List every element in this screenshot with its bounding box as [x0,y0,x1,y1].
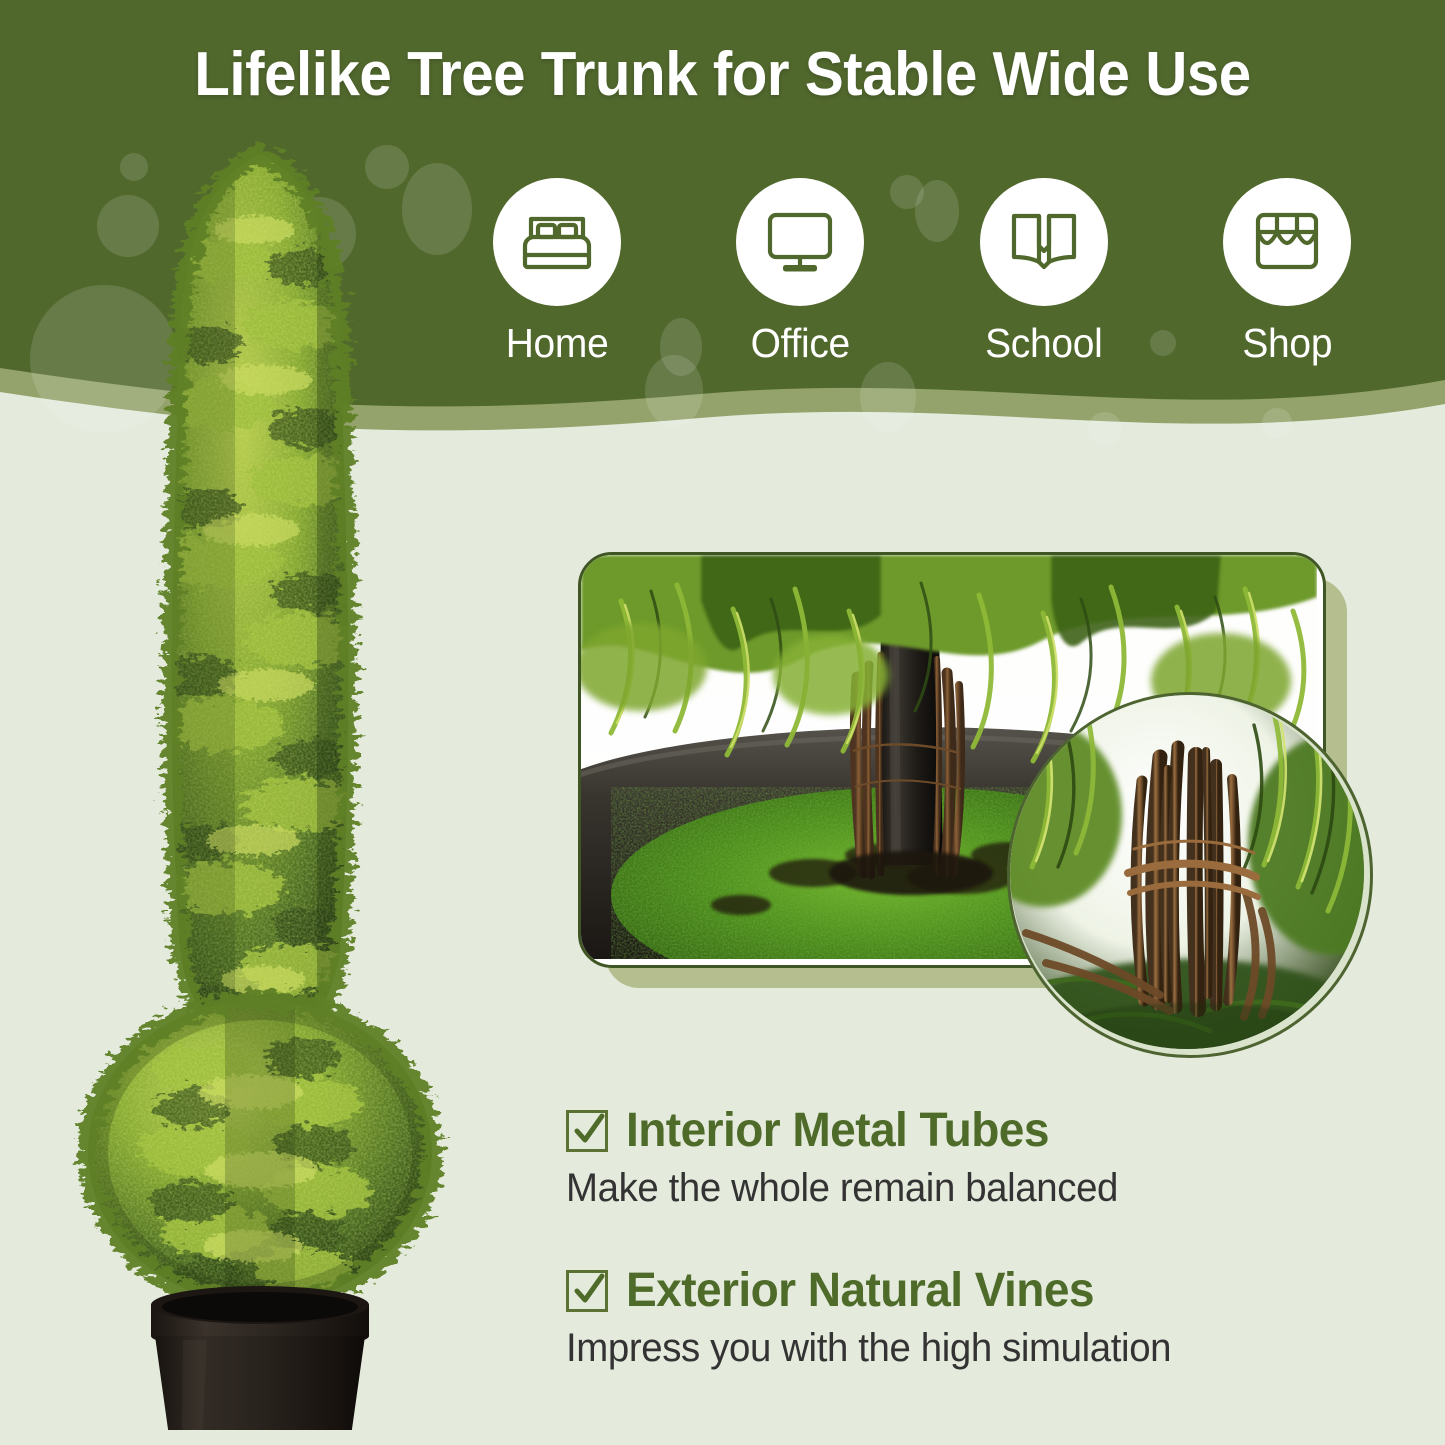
usecase-label: School [985,320,1102,367]
usecase-badge [736,178,864,306]
usecase-label: Home [506,320,609,367]
checkbox-checked-icon [566,1270,608,1312]
usecase-item-shop[interactable]: Shop [1192,178,1382,367]
page-title: Lifelike Tree Trunk for Stable Wide Use [43,42,1401,107]
usecase-badge [980,178,1108,306]
feature-subtitle: Impress you with the high simulation [566,1326,1334,1371]
checkbox-checked-icon [566,1110,608,1152]
feature-list: Interior Metal Tubes Make the whole rema… [566,1103,1366,1371]
usecase-label: Office [751,320,850,367]
bed-icon [519,211,595,273]
vine-bundle-closeup [1007,692,1373,1058]
feature-item: Exterior Natural Vines Impress you with … [566,1263,1366,1371]
storefront-icon [1253,210,1321,274]
usecase-item-home[interactable]: Home [462,178,652,367]
monitor-icon [765,210,835,274]
tree-lower-ball [55,990,465,1320]
usecase-item-office[interactable]: Office [705,178,895,367]
feature-item: Interior Metal Tubes Make the whole rema… [566,1103,1366,1211]
usecase-label: Shop [1242,320,1332,367]
feature-title: Interior Metal Tubes [626,1103,1049,1158]
tree-pot [151,1286,369,1430]
tree-upper-column [55,140,465,1060]
feature-subtitle: Make the whole remain balanced [566,1166,1334,1211]
usecase-badge [1223,178,1351,306]
usecase-item-school[interactable]: School [949,178,1139,367]
product-image-topiary-tree [55,140,465,1430]
usecase-badge [493,178,621,306]
open-book-icon [1009,210,1079,274]
feature-title: Exterior Natural Vines [626,1263,1094,1318]
usecase-list: Home Office [462,178,1382,367]
